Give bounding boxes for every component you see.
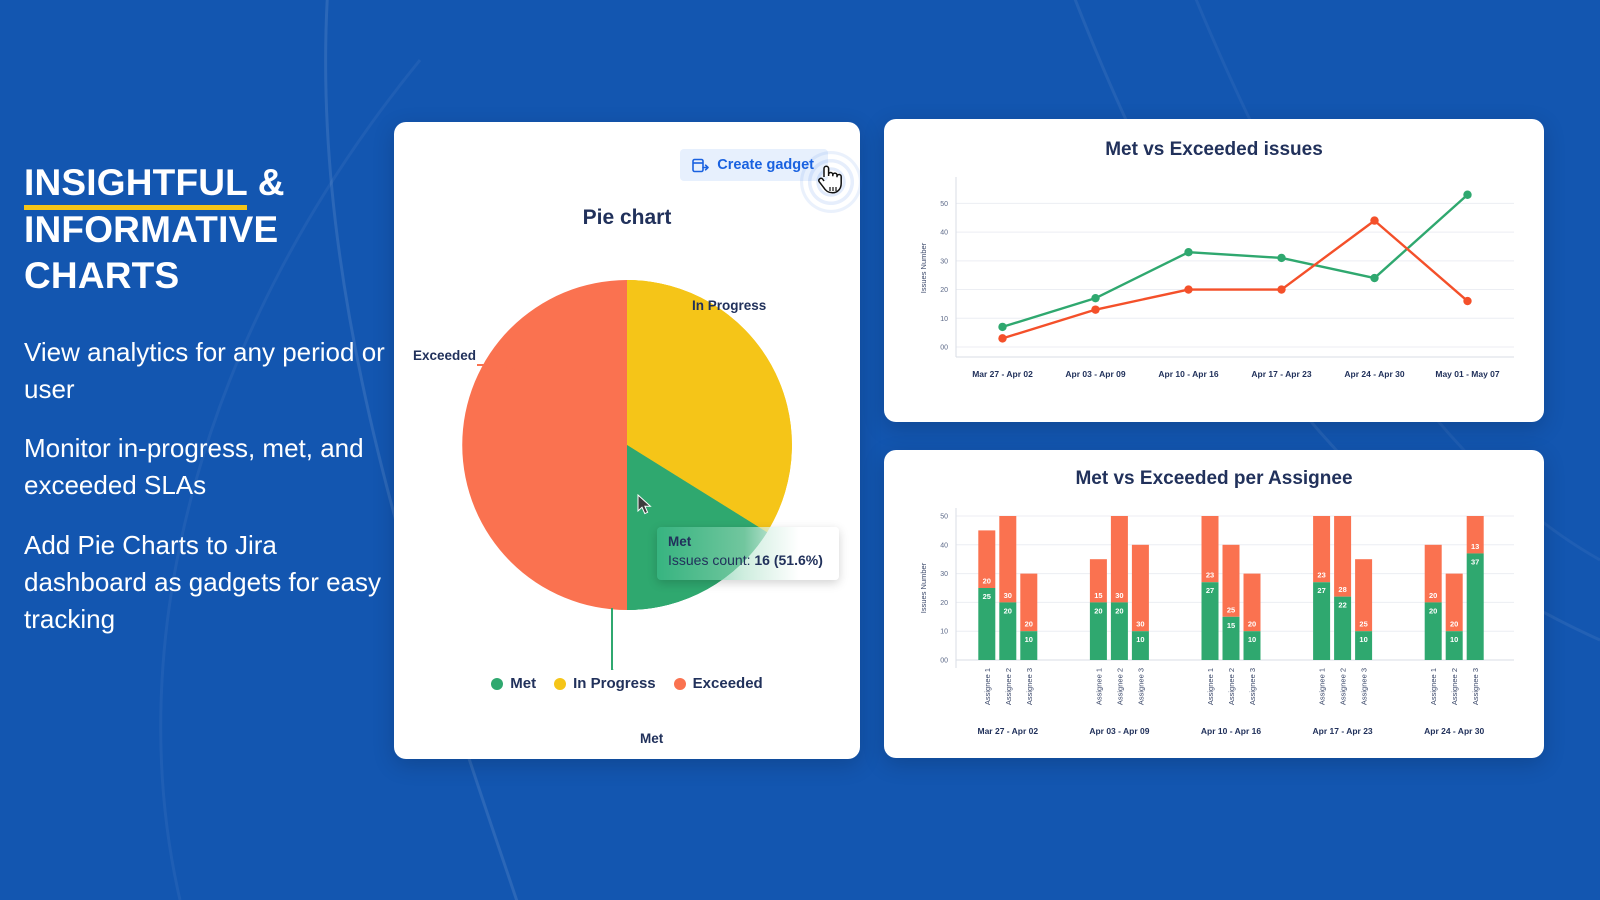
svg-text:30: 30: [1136, 620, 1144, 629]
feature-bullet-2: Monitor in-progress, met, and exceeded S…: [24, 430, 394, 504]
feature-bullet-3: Add Pie Charts to Jira dashboard as gadg…: [24, 527, 394, 639]
svg-text:25: 25: [1227, 605, 1235, 614]
svg-text:10: 10: [940, 316, 948, 323]
svg-text:Apr 24 - Apr 30: Apr 24 - Apr 30: [1344, 369, 1404, 379]
legend-dot-in-progress: [554, 678, 566, 690]
legend-item-in-progress[interactable]: In Progress: [554, 675, 656, 692]
svg-text:Assignee 1: Assignee 1: [1206, 668, 1215, 705]
svg-text:30: 30: [1115, 591, 1123, 600]
svg-text:Apr 03 - Apr 09: Apr 03 - Apr 09: [1089, 726, 1149, 736]
svg-text:20: 20: [1025, 620, 1033, 629]
create-gadget-label: Create gadget: [717, 157, 814, 173]
svg-text:23: 23: [1317, 571, 1325, 580]
svg-text:22: 22: [1338, 601, 1346, 610]
svg-text:20: 20: [1094, 606, 1102, 615]
svg-text:20: 20: [1450, 620, 1458, 629]
svg-text:Apr 17 - Apr 23: Apr 17 - Apr 23: [1313, 726, 1373, 736]
svg-text:37: 37: [1471, 557, 1479, 566]
svg-text:25: 25: [1359, 620, 1367, 629]
pie-legend: Met In Progress Exceeded: [394, 675, 860, 692]
pie-leader-met: [612, 608, 629, 670]
svg-text:20: 20: [983, 577, 991, 586]
svg-text:50: 50: [940, 514, 948, 521]
svg-text:00: 00: [940, 658, 948, 665]
svg-text:15: 15: [1227, 621, 1235, 630]
svg-text:13: 13: [1471, 542, 1479, 551]
svg-text:10: 10: [1025, 635, 1033, 644]
pie-label-in-progress: In Progress: [692, 298, 766, 313]
svg-text:Assignee 1: Assignee 1: [1094, 668, 1103, 705]
svg-text:Assignee 3: Assignee 3: [1471, 668, 1480, 705]
svg-text:20: 20: [1248, 620, 1256, 629]
svg-text:30: 30: [1004, 591, 1012, 600]
bar-chart-card: Met vs Exceeded per Assignee 00102030405…: [884, 450, 1544, 758]
svg-text:20: 20: [1004, 606, 1012, 615]
pie-tooltip: Met Issues count: 16 (51.6%): [657, 527, 839, 580]
tooltip-label: Issues count:: [668, 552, 754, 568]
line-chart-title: Met vs Exceeded issues: [884, 139, 1544, 161]
svg-text:Apr 24 - Apr 30: Apr 24 - Apr 30: [1424, 726, 1484, 736]
svg-text:Assignee 2: Assignee 2: [1115, 668, 1124, 705]
pie-slice-exceeded[interactable]: [462, 280, 627, 610]
svg-text:Assignee 2: Assignee 2: [1450, 668, 1459, 705]
svg-text:28: 28: [1338, 585, 1346, 594]
svg-text:10: 10: [1359, 635, 1367, 644]
tooltip-value: 16 (51.6%): [754, 552, 822, 568]
feature-bullet-1: View analytics for any period or user: [24, 334, 394, 408]
svg-text:Assignee 2: Assignee 2: [1227, 668, 1236, 705]
legend-label-met: Met: [510, 675, 536, 692]
legend-label-exceeded: Exceeded: [693, 675, 763, 692]
svg-text:Assignee 2: Assignee 2: [1004, 668, 1013, 705]
svg-text:40: 40: [940, 230, 948, 237]
pie-chart-plot: In Progress Exceeded Met: [394, 230, 860, 670]
legend-dot-met: [491, 678, 503, 690]
svg-text:Mar 27 - Apr 02: Mar 27 - Apr 02: [972, 369, 1033, 379]
svg-text:Assignee 3: Assignee 3: [1136, 668, 1145, 705]
legend-label-in-progress: In Progress: [573, 675, 656, 692]
pie-chart-card: Create gadget Pie chart In Progres: [394, 122, 860, 759]
svg-text:30: 30: [940, 571, 948, 578]
svg-text:Apr 17 - Apr 23: Apr 17 - Apr 23: [1251, 369, 1311, 379]
svg-text:15: 15: [1094, 591, 1102, 600]
svg-text:Assignee 3: Assignee 3: [1025, 668, 1034, 705]
pie-label-exceeded: Exceeded: [413, 348, 476, 363]
line-chart-card: Met vs Exceeded issues 001020304050Issue…: [884, 119, 1544, 422]
svg-text:Apr 03 - Apr 09: Apr 03 - Apr 09: [1065, 369, 1125, 379]
svg-text:Assignee 1: Assignee 1: [983, 668, 992, 705]
svg-text:Apr 10 - Apr 16: Apr 10 - Apr 16: [1201, 726, 1261, 736]
tooltip-body: Issues count: 16 (51.6%): [668, 551, 828, 570]
svg-text:23: 23: [1206, 571, 1214, 580]
headline-underlined: INSIGHTFUL: [24, 162, 247, 210]
svg-text:27: 27: [1317, 586, 1325, 595]
bar-chart-title: Met vs Exceeded per Assignee: [884, 468, 1544, 490]
svg-text:10: 10: [1248, 635, 1256, 644]
svg-text:10: 10: [1450, 635, 1458, 644]
svg-text:Assignee 1: Assignee 1: [1429, 668, 1438, 705]
bar-chart-plot[interactable]: 001020304050Issues Number2025Assignee 13…: [884, 490, 1544, 748]
tooltip-title: Met: [668, 534, 828, 551]
svg-text:Issues Number: Issues Number: [919, 562, 928, 613]
left-panel: INSIGHTFUL & INFORMATIVE CHARTS View ana…: [24, 160, 394, 660]
legend-item-met[interactable]: Met: [491, 675, 536, 692]
svg-text:May 01 - May 07: May 01 - May 07: [1435, 369, 1500, 379]
svg-text:20: 20: [1429, 606, 1437, 615]
svg-text:10: 10: [940, 629, 948, 636]
legend-item-exceeded[interactable]: Exceeded: [674, 675, 763, 692]
svg-text:Assignee 1: Assignee 1: [1318, 668, 1327, 705]
svg-text:27: 27: [1206, 586, 1214, 595]
svg-text:10: 10: [1136, 635, 1144, 644]
svg-text:Assignee 2: Assignee 2: [1339, 668, 1348, 705]
pie-chart-title: Pie chart: [394, 206, 860, 230]
page-title: INSIGHTFUL & INFORMATIVE CHARTS: [24, 160, 394, 300]
svg-text:Apr 10 - Apr 16: Apr 10 - Apr 16: [1158, 369, 1218, 379]
svg-text:Assignee 3: Assignee 3: [1248, 668, 1257, 705]
svg-text:00: 00: [940, 345, 948, 352]
legend-dot-exceeded: [674, 678, 686, 690]
svg-text:Mar 27 - Apr 02: Mar 27 - Apr 02: [977, 726, 1038, 736]
svg-text:20: 20: [940, 600, 948, 607]
create-gadget-icon: [692, 158, 709, 173]
svg-text:20: 20: [940, 287, 948, 294]
svg-text:Issues Number: Issues Number: [919, 242, 928, 293]
svg-text:20: 20: [1429, 591, 1437, 600]
svg-text:50: 50: [940, 201, 948, 208]
svg-text:30: 30: [940, 258, 948, 265]
svg-text:20: 20: [1115, 606, 1123, 615]
pie-label-met: Met: [640, 731, 663, 746]
create-gadget-button[interactable]: Create gadget: [680, 149, 828, 181]
svg-text:25: 25: [983, 592, 991, 601]
svg-text:Assignee 3: Assignee 3: [1360, 668, 1369, 705]
svg-text:40: 40: [940, 542, 948, 549]
line-chart-plot[interactable]: 001020304050Issues NumberMar 27 - Apr 02…: [884, 161, 1544, 411]
